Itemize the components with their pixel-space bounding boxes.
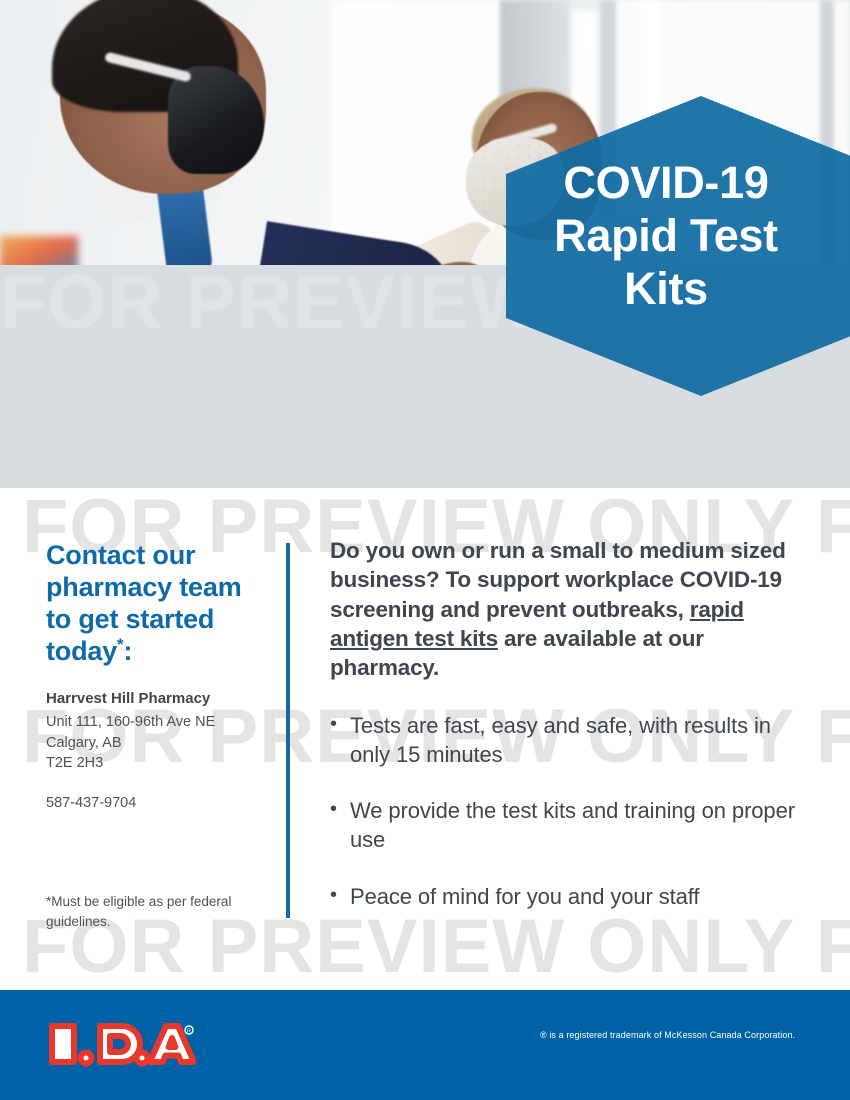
badge-line-3: Kits (506, 262, 826, 315)
badge-line-2: Rapid Test (506, 209, 826, 262)
contact-heading: Contact our pharmacy team to get started… (46, 540, 258, 667)
benefits-list: Tests are fast, easy and safe, with resu… (330, 712, 808, 911)
list-item: We provide the test kits and training on… (330, 797, 808, 854)
list-item: Tests are fast, easy and safe, with resu… (330, 712, 808, 769)
covid-badge: COVID-19 Rapid Test Kits (506, 96, 850, 396)
content-area: Contact our pharmacy team to get started… (0, 488, 850, 990)
badge-text: COVID-19 Rapid Test Kits (506, 156, 826, 315)
svg-text:R: R (187, 1029, 191, 1035)
address-line-3: T2E 2H3 (46, 753, 258, 774)
badge-line-1: COVID-19 (506, 156, 826, 209)
heading-colon: : (123, 636, 132, 666)
contact-heading-line-2: pharmacy team (46, 572, 242, 602)
eligibility-footnote: *Must be eligible as per federal guideli… (46, 892, 254, 931)
address-line-2: Calgary, AB (46, 733, 258, 754)
pharmacy-name: Harrvest Hill Pharmacy (46, 689, 258, 709)
pharmacy-phone[interactable]: 587-437-9704 (46, 793, 258, 814)
footer-bar: R ® is a registered trademark of McKesso… (0, 990, 850, 1100)
trademark-notice: ® is a registered trademark of McKesson … (540, 1030, 795, 1040)
contact-heading-line-1: Contact our (46, 540, 195, 570)
vertical-divider (286, 543, 290, 918)
main-copy-column: Do you own or run a small to medium size… (330, 536, 808, 911)
contact-column: Contact our pharmacy team to get started… (46, 540, 258, 813)
contact-heading-line-3: to get started (46, 604, 214, 634)
list-item: Peace of mind for you and your staff (330, 883, 808, 912)
ida-logo: R (46, 1018, 196, 1070)
poster: FOR PREVIEW ONLY FOR PREVIEW ONLY COVID-… (0, 0, 850, 1100)
address-line-1: Unit 111, 160-96th Ave NE (46, 712, 258, 733)
lead-paragraph: Do you own or run a small to medium size… (330, 536, 808, 682)
contact-heading-line-4: today (46, 636, 117, 666)
ida-logo-icon: R (46, 1018, 196, 1070)
